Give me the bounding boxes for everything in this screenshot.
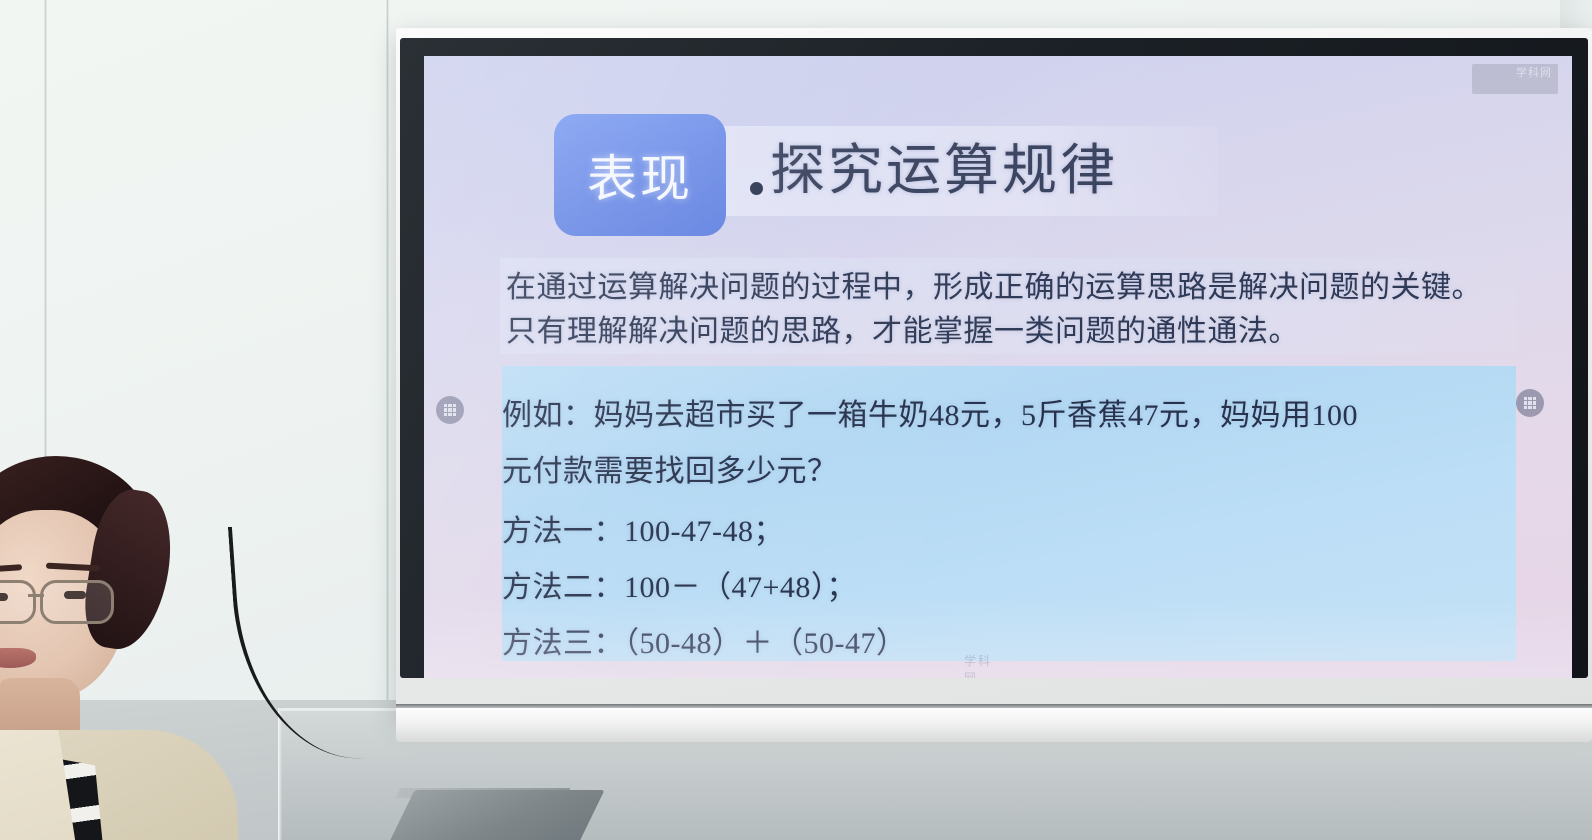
screen-smudge-text: 学科网 <box>964 652 1000 668</box>
watermark-label: 学科网 <box>1516 68 1552 79</box>
grid-dots <box>444 404 457 417</box>
title-badge-label: 表现 <box>587 139 693 211</box>
lens-left <box>0 580 36 624</box>
example-method-1: 方法一：100-47-48； <box>502 506 1516 550</box>
eyeglasses <box>0 580 138 620</box>
watermark-badge: 学科网 <box>1472 64 1558 94</box>
laptop-device <box>385 790 604 840</box>
cabinet-left-edge <box>278 708 282 840</box>
title-badge: 表现 <box>554 114 726 236</box>
grid-dots <box>1524 397 1537 410</box>
board-bezel: 学科网 表现 探究运算规律 在通过运算解决问题的过程中，形成正确的运算思路是解决… <box>400 38 1588 678</box>
slide-title: 探究运算规律 <box>770 136 1118 206</box>
lens-right <box>40 580 114 624</box>
classroom-scene: 学科网 表现 探究运算规律 在通过运算解决问题的过程中，形成正确的运算思路是解决… <box>0 0 1592 840</box>
example-block: 例如：妈妈去超市买了一箱牛奶48元，5斤香蕉47元，妈妈用100 元付款需要找回… <box>502 366 1516 661</box>
example-method-3: 方法三：（50-48）＋（50-47） <box>502 618 1516 662</box>
slide-title-row: 表现 探究运算规律 <box>554 114 1314 228</box>
example-line-1: 例如：妈妈去超市买了一箱牛奶48元，5斤香蕉47元，妈妈用100 <box>502 390 1516 434</box>
example-line-2: 元付款需要找回多少元？ <box>502 446 1516 490</box>
intro-paragraph: 在通过运算解决问题的过程中，形成正确的运算思路是解决问题的关键。只有理解解决问题… <box>506 266 1508 354</box>
bullet-dot-icon <box>750 182 763 195</box>
example-method-2: 方法二：100－（47+48）； <box>502 562 1516 606</box>
grid-handle-left-icon[interactable] <box>436 396 464 424</box>
glasses-bridge <box>28 594 44 597</box>
teacher-figure <box>0 430 260 840</box>
presentation-slide[interactable]: 学科网 表现 探究运算规律 在通过运算解决问题的过程中，形成正确的运算思路是解决… <box>424 56 1572 678</box>
grid-handle-right-icon[interactable] <box>1516 389 1544 417</box>
board-tray <box>396 708 1592 742</box>
interactive-whiteboard[interactable]: 学科网 表现 探究运算规律 在通过运算解决问题的过程中，形成正确的运算思路是解决… <box>396 28 1592 718</box>
